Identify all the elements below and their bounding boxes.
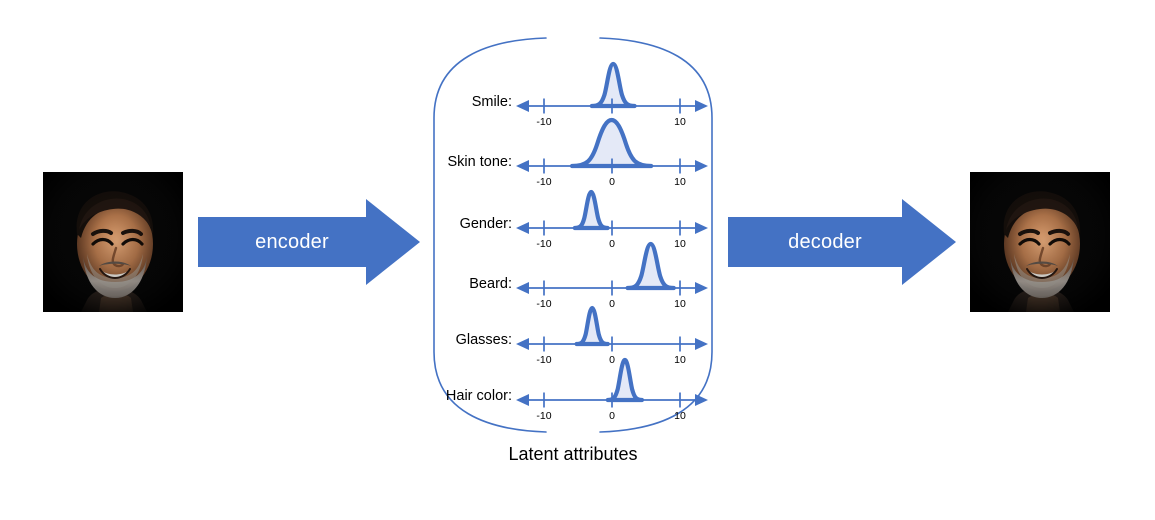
latent-attributes-caption: Latent attributes <box>428 444 718 465</box>
attribute-label-hair-color: Hair color: <box>424 388 512 404</box>
attribute-label-beard: Beard: <box>424 276 512 292</box>
gaussian-curve-smile <box>592 64 635 106</box>
attribute-label-gender: Gender: <box>424 216 512 232</box>
axis-hair-color <box>524 393 700 408</box>
attribute-label-glasses: Glasses: <box>424 332 512 348</box>
decoder-arrow-shape <box>728 199 956 285</box>
gaussian-curve-gender <box>575 192 608 228</box>
axis-arrow-left-hair-color <box>516 394 529 406</box>
encoder-arrow: encoder <box>198 199 420 285</box>
axis-arrow-right-hair-color <box>695 394 708 406</box>
attribute-label-smile: Smile: <box>424 94 512 110</box>
input-face-photo <box>43 172 183 312</box>
decoder-arrow: decoder <box>728 199 956 285</box>
tick-label: -10 <box>536 410 551 422</box>
encoder-arrow-shape <box>198 199 420 285</box>
reconstructed-face-photo <box>970 172 1110 312</box>
attribute-label-skin-tone: Skin tone: <box>424 154 512 170</box>
attribute-rows: Smile: <box>428 32 718 438</box>
tick-label: 10 <box>674 410 686 422</box>
axis-ticklabels-hair-color: -10 0 10 <box>536 410 686 422</box>
attribute-plot-hair-color: -10 0 10 <box>512 338 712 424</box>
tick-label: 0 <box>609 410 615 422</box>
latent-attributes-panel: Smile: <box>428 32 718 438</box>
attribute-row-hair-color: Hair color: <box>428 360 718 422</box>
diagram-canvas: encoder Smile: <box>0 0 1155 520</box>
gaussian-curve-hair-color <box>608 360 642 400</box>
